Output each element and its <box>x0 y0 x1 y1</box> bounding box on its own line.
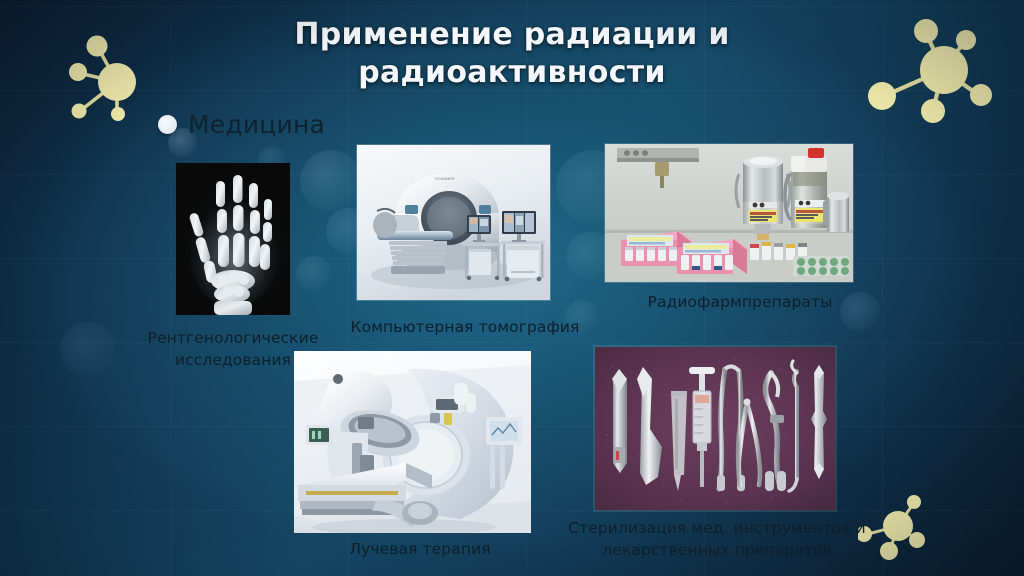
molecule-top-right-icon <box>868 8 1024 142</box>
presentation-slide: Применение радиации и радиоактивности Ме… <box>0 0 1024 576</box>
lead-container-2 <box>785 148 827 228</box>
ct-scanner-photo: SCANNER <box>357 145 550 300</box>
page-title: Применение радиации и радиоактивности <box>212 16 812 93</box>
title-line-1: Применение радиации и <box>212 16 812 54</box>
radiopharm-caption: Радиофармпрепараты <box>600 291 880 313</box>
xray-photo <box>176 163 290 315</box>
ct-caption: Компьютерная томография <box>320 316 610 338</box>
radiopharmaceuticals-photo <box>605 144 853 282</box>
ct-scanner-illustration: SCANNER <box>357 145 550 300</box>
blister-packs <box>793 256 849 276</box>
radiopharm-illustration <box>605 144 853 282</box>
sterilization-photo <box>595 347 835 510</box>
svg-text:SCANNER: SCANNER <box>435 176 455 181</box>
sterilization-caption: Стерилизация мед. инструментов и лекарст… <box>532 517 902 561</box>
radiotherapy-caption: Лучевая терапия <box>300 538 540 560</box>
surgical-instruments-illustration <box>595 347 835 510</box>
circle-bullet-icon <box>158 115 177 134</box>
bullet-item-medicine: Медицина <box>158 110 325 139</box>
xray-hand-bones <box>176 163 290 315</box>
tool-scalpel-1 <box>612 369 627 473</box>
linac-illustration <box>294 351 531 533</box>
title-line-2: радиоактивности <box>212 54 812 92</box>
radiotherapy-photo <box>294 351 531 533</box>
bullet-item-label: Медицина <box>188 110 325 139</box>
